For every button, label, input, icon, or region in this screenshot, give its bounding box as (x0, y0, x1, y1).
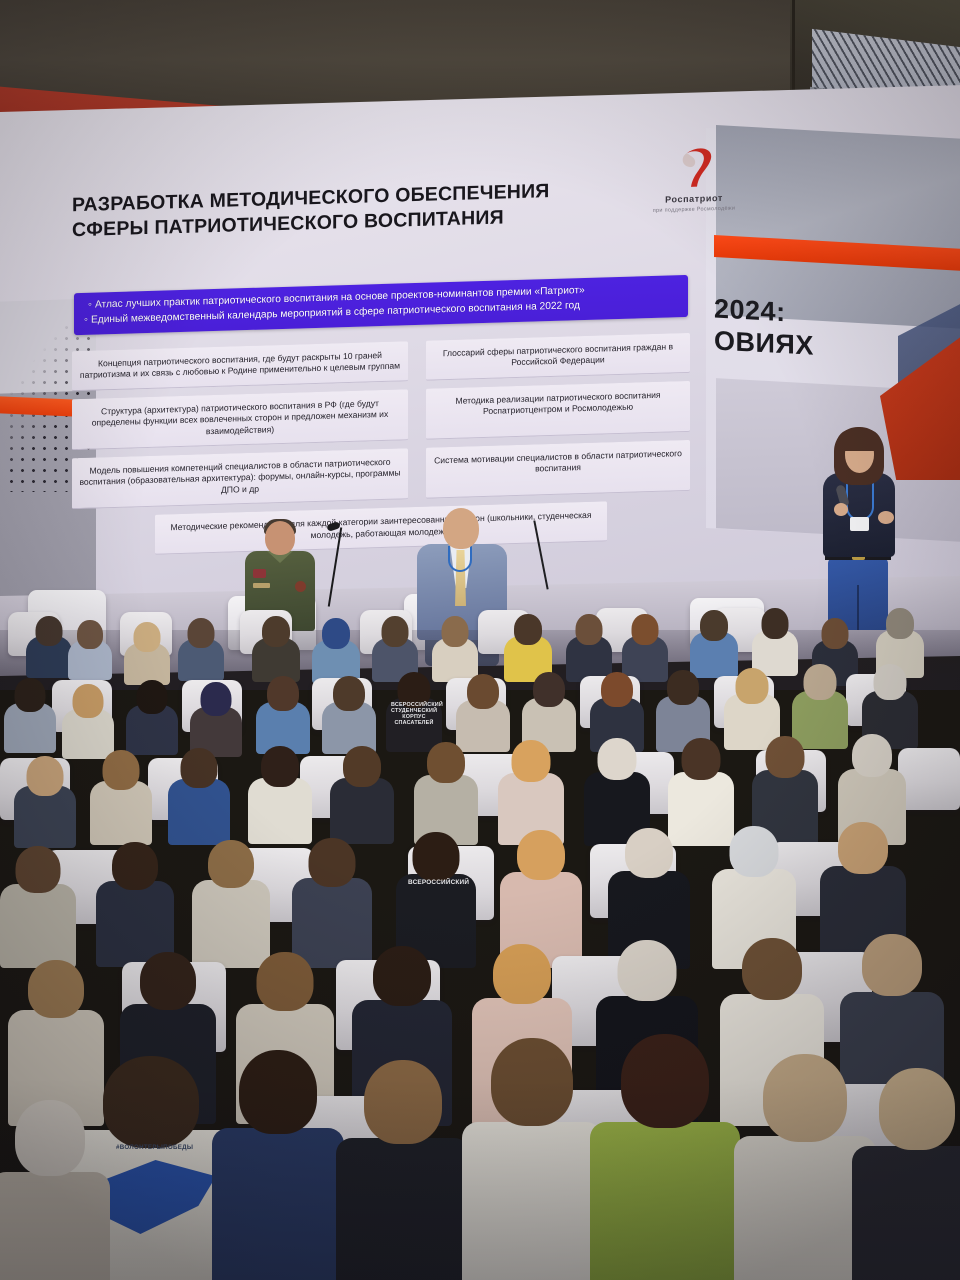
presentation-slide: РАЗРАБОТКА МЕТОДИЧЕСКОГО ОБЕСПЕЧЕНИЯ СФЕ… (46, 134, 716, 594)
audience-person (0, 846, 76, 964)
audience-person (690, 610, 738, 672)
audience-person (504, 614, 552, 676)
audience-person (522, 672, 576, 748)
audience-person (876, 608, 924, 672)
slide-card-motivation: Система мотивации специалистов в области… (426, 440, 690, 499)
audience-person (622, 614, 668, 676)
logo-name: Роспатриот (646, 192, 742, 205)
audience-person (312, 618, 360, 678)
audience-person (336, 1060, 470, 1280)
audience-person-shawl (590, 1034, 740, 1280)
audience-person (330, 746, 394, 842)
speaker-right-hand (878, 511, 894, 524)
audience-person (862, 664, 918, 744)
audience-person (752, 608, 798, 670)
audience-person (14, 756, 76, 844)
audience-person (126, 680, 178, 750)
slide-card-method: Методика реализации патриотического восп… (426, 381, 690, 440)
audience-person (62, 684, 114, 754)
card-row-2: Структура (архитектура) патриотического … (72, 381, 690, 451)
audience-person (0, 1100, 110, 1280)
audience-person (256, 676, 310, 748)
speaker-fringe (836, 429, 882, 451)
audience-person (852, 1068, 960, 1280)
audience-person (432, 616, 478, 676)
audience-person (90, 750, 152, 842)
audience-person (462, 1038, 602, 1280)
audience-person (124, 622, 170, 680)
slide-card-structure: Структура (архитектура) патриотического … (72, 389, 408, 450)
audience-person (792, 664, 848, 744)
conference-photo-scene: 2024: ОВИЯХ РАЗРАБОТКА МЕТОДИЧЕСКОГО ОБЕ… (0, 0, 960, 1280)
hoodie-print-text: #ВОЛОНТЕРЫПОБЕДЫ (116, 1144, 193, 1151)
slide-title: РАЗРАБОТКА МЕТОДИЧЕСКОГО ОБЕСПЕЧЕНИЯ СФЕ… (72, 178, 592, 243)
logo-swoosh-icon (646, 145, 742, 192)
slide-card-grid: Концепция патриотического воспитания, гд… (72, 333, 690, 557)
audience-person (96, 842, 174, 964)
audience-chair (898, 748, 960, 810)
card-row-3: Модель повышения компетенций специалисто… (72, 440, 690, 510)
shirt-print-text: ВСЕРОССИЙСКИЙ СТУДЕНЧЕСКИЙ КОРПУС СПАСАТ… (391, 702, 437, 726)
slide-card-concept: Концепция патриотического воспитания, гд… (72, 341, 408, 391)
audience-person (372, 616, 418, 676)
slide-card-glossary: Глоссарий сферы патриотического воспитан… (426, 333, 690, 381)
slide-card-competence: Модель повышения компетенций специалисто… (72, 448, 408, 509)
speaker-badge (850, 517, 869, 531)
audience-person (456, 674, 510, 748)
audience-person (252, 616, 300, 676)
speaker-left-hand (834, 503, 848, 516)
audience-person (68, 620, 112, 676)
audience-person (656, 670, 710, 748)
audience-person (248, 746, 312, 842)
audience-area: ВСЕРОССИЙСКИЙ СТУДЕНЧЕСКИЙ КОРПУС СПАСАТ… (0, 560, 960, 1280)
card-row-1: Концепция патриотического воспитания, гд… (72, 333, 690, 391)
audience-person (168, 748, 230, 842)
audience-person (190, 682, 242, 752)
audience-person (724, 668, 780, 746)
slide-highlight-box: Атлас лучших практик патриотического вос… (74, 275, 688, 335)
audience-person (590, 672, 644, 748)
panelist-military-head (265, 521, 295, 555)
audience-person (178, 618, 224, 676)
audience-person (584, 738, 650, 842)
audience-person (322, 676, 376, 748)
audience-person (192, 840, 270, 964)
audience-person: ВСЕРОССИЙСКИЙ СТУДЕНЧЕСКИЙ КОРПУС СПАСАТ… (386, 672, 442, 748)
panelist-moderator-head (443, 508, 479, 549)
audience-person (566, 614, 612, 676)
audience-person (212, 1050, 344, 1280)
audience-person (4, 678, 56, 748)
audience-person (26, 616, 72, 674)
shirt-print-text: ВСЕРОССИЙСКИЙ (408, 880, 464, 886)
audience-person (414, 742, 478, 842)
audience-person: ВСЕРОССИЙСКИЙ (396, 832, 476, 964)
rospatriot-logo: Роспатриот при поддержке Росмолодёжи (646, 145, 742, 214)
audience-person (498, 740, 564, 842)
